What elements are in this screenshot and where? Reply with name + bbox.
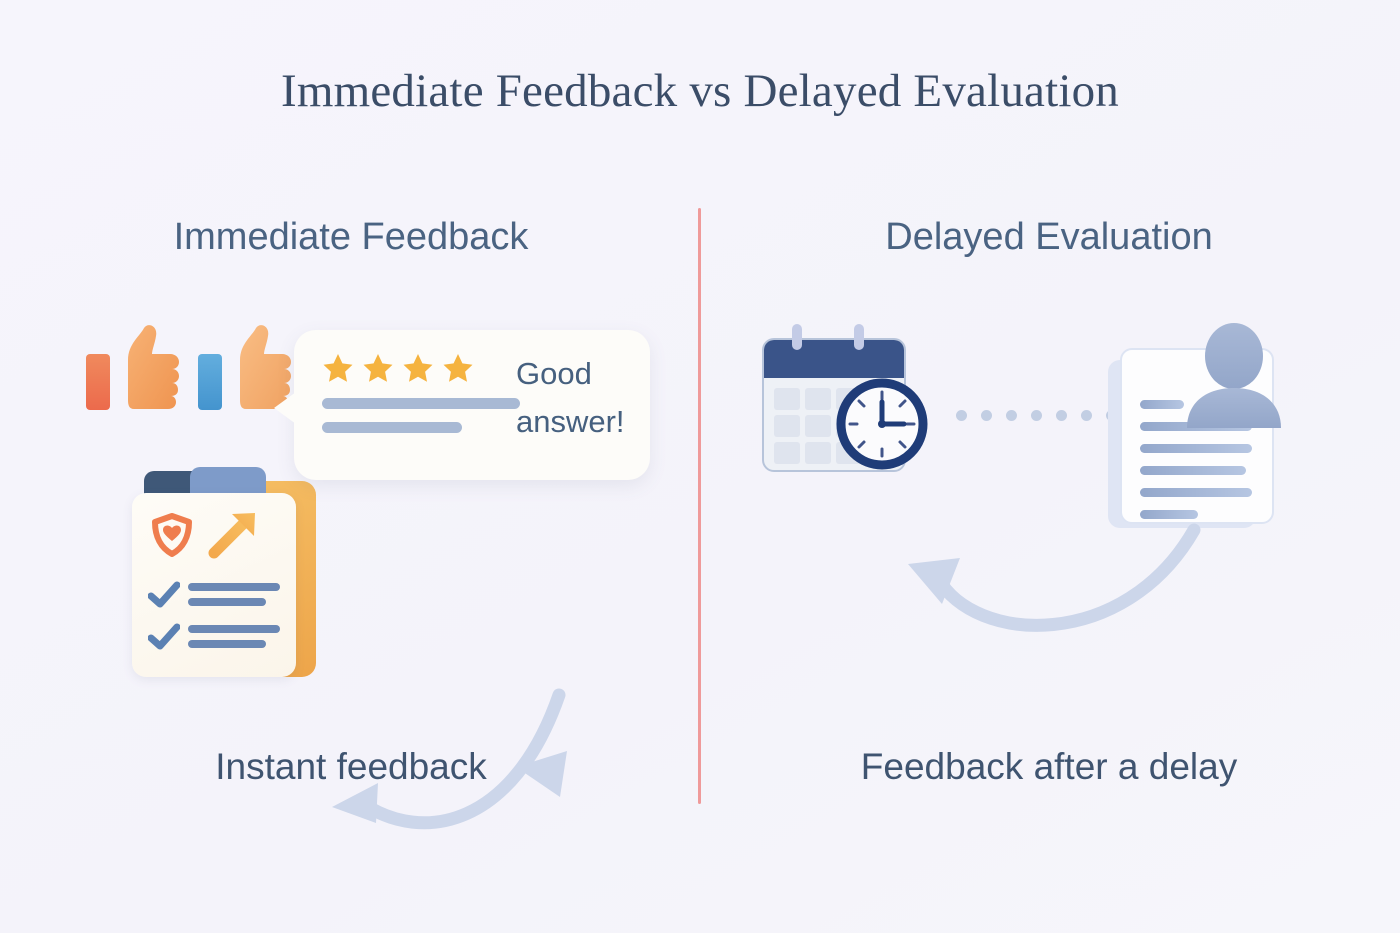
document-line <box>1140 488 1252 497</box>
feedback-speech-bubble: Good answer! <box>294 330 650 480</box>
clock-icon <box>836 378 928 470</box>
right-panel-heading: Delayed Evaluation <box>704 216 1394 259</box>
thumbs-up-group <box>84 318 294 418</box>
person-silhouette-icon <box>1182 322 1286 432</box>
bubble-line <box>322 398 520 409</box>
page-title: Immediate Feedback vs Delayed Evaluation <box>0 64 1400 118</box>
document-line <box>1140 466 1246 475</box>
dot <box>1006 410 1017 421</box>
panel-divider <box>698 208 701 804</box>
star-rating <box>322 352 474 384</box>
speech-bubble-tail <box>274 392 296 424</box>
star-icon <box>322 352 354 384</box>
calendar-cell <box>774 442 800 464</box>
calendar-header <box>764 340 904 378</box>
star-icon <box>402 352 434 384</box>
checklist-card <box>132 493 296 677</box>
dot <box>1056 410 1067 421</box>
bubble-line <box>322 422 462 433</box>
calendar-ring <box>792 324 802 350</box>
thumbs-up-orange-icon <box>84 318 180 414</box>
checkmark-icon <box>148 623 180 651</box>
bubble-text: Good answer! <box>516 350 646 446</box>
calendar-clock-group <box>754 318 954 488</box>
checklist-row <box>148 579 280 613</box>
dot <box>1031 410 1042 421</box>
checkmark-icon <box>148 581 180 609</box>
document-person-group <box>1104 322 1294 537</box>
calendar-cell <box>774 388 800 410</box>
panel-delayed-evaluation: Delayed Evaluation <box>704 200 1394 820</box>
checklist-line <box>188 625 280 633</box>
checklist-card-group <box>124 465 320 685</box>
calendar-cell <box>805 442 831 464</box>
calendar-cell <box>805 415 831 437</box>
checklist-line <box>188 598 266 606</box>
calendar-cell <box>774 415 800 437</box>
dot <box>1081 410 1092 421</box>
calendar-ring <box>854 324 864 350</box>
checklist-text-lines <box>188 583 280 613</box>
document-line <box>1140 510 1198 519</box>
left-panel-heading: Immediate Feedback <box>6 216 696 259</box>
infographic-canvas: Immediate Feedback vs Delayed Evaluation… <box>0 0 1400 933</box>
thumb-cuff-orange <box>86 354 110 410</box>
checklist-line <box>188 583 280 591</box>
bubble-text-line-2: answer! <box>516 398 646 446</box>
star-icon <box>362 352 394 384</box>
bubble-placeholder-lines <box>322 398 522 446</box>
shield-heart-icon <box>150 513 194 557</box>
right-panel-caption: Feedback after a delay <box>704 746 1394 788</box>
checklist-text-lines <box>188 625 280 655</box>
document-line <box>1140 400 1184 409</box>
dot <box>981 410 992 421</box>
arrow-up-right-icon <box>208 509 262 559</box>
thumb-hand-shape <box>110 324 180 410</box>
checklist-line <box>188 640 266 648</box>
calendar-cell <box>805 388 831 410</box>
document-line <box>1140 444 1252 453</box>
checklist-row <box>148 621 280 655</box>
panel-immediate-feedback: Immediate Feedback <box>6 200 696 820</box>
star-icon <box>442 352 474 384</box>
bubble-text-line-1: Good <box>516 350 646 398</box>
thumb-cuff-blue <box>198 354 222 410</box>
curved-arrow-left <box>894 520 1224 660</box>
dot <box>956 410 967 421</box>
left-panel-caption: Instant feedback <box>6 746 696 788</box>
